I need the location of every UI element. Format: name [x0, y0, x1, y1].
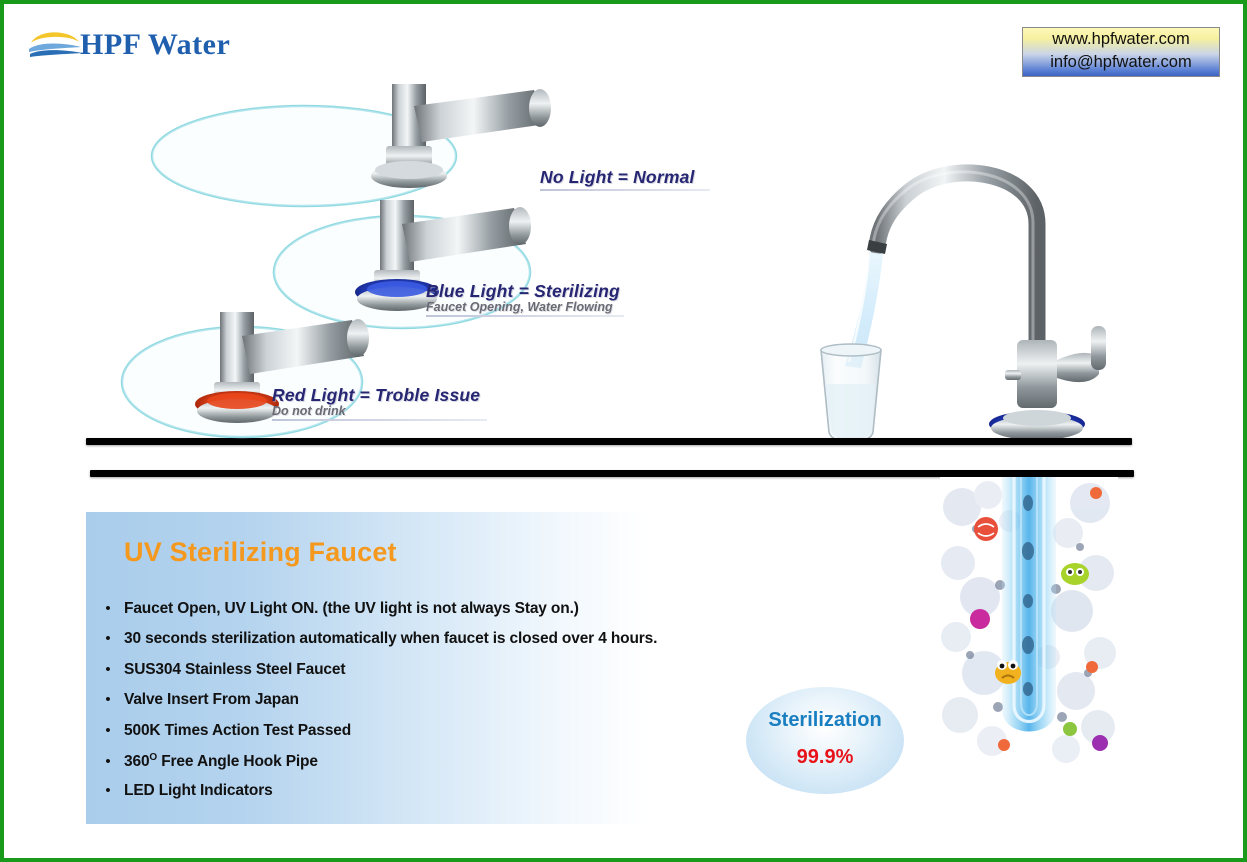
callout-title: Blue Light = Sterilizing [426, 281, 624, 302]
callout-title: No Light = Normal [540, 167, 710, 188]
list-item: • LED Light Indicators [92, 782, 812, 812]
brand-logo: HPF Water [26, 24, 230, 66]
slide-canvas: HPF Water www.hpfwater.com info@hpfwater… [0, 0, 1247, 862]
feature-text: Faucet Open, UV Light ON. (the UV light … [124, 600, 579, 618]
bullet-icon: • [92, 722, 124, 739]
list-item: • Valve Insert From Japan [92, 691, 812, 721]
germ-yellow-face [995, 660, 1021, 684]
bullet-icon: • [92, 691, 124, 708]
contact-info-box: www.hpfwater.com info@hpfwater.com [1022, 27, 1220, 77]
callout-subtitle: Do not drink [272, 404, 487, 418]
feature-text-rest: Free Angle Hook Pipe [157, 753, 318, 770]
status-badge: Sterilization 99.9% [746, 687, 904, 794]
brand-name: HPF Water [80, 28, 230, 62]
germ-magenta [970, 609, 990, 629]
feature-text: Valve Insert From Japan [124, 691, 299, 709]
callout-no-light: No Light = Normal [540, 167, 710, 191]
uv-chamber-illustration [940, 477, 1118, 765]
bullet-icon: • [92, 753, 124, 770]
feature-text: LED Light Indicators [124, 782, 273, 800]
badge-value: 99.9% [746, 746, 904, 769]
email-text[interactable]: info@hpfwater.com [1023, 51, 1219, 74]
list-item: • 30 seconds sterilization automatically… [92, 630, 812, 660]
list-item: • 500K Times Action Test Passed [92, 722, 812, 752]
page-title: UV Sterilizing Faucet [124, 537, 397, 568]
faucet-inset-red-light [112, 312, 472, 452]
bullet-icon: • [92, 630, 124, 647]
bullet-icon: • [92, 661, 124, 678]
feature-text: 30 seconds sterilization automatically w… [124, 630, 657, 648]
countertop-line-bottom [90, 470, 1134, 477]
water-wave-sun-icon [26, 27, 84, 63]
website-text[interactable]: www.hpfwater.com [1023, 28, 1219, 51]
feature-text-main: 360 [124, 753, 149, 770]
main-faucet-illustration [799, 112, 1119, 452]
germ-green [1061, 563, 1089, 585]
bullet-icon: • [92, 782, 124, 799]
germ-purple-dot [1092, 735, 1108, 751]
feature-text: 500K Times Action Test Passed [124, 722, 351, 740]
callout-red-light: Red Light = Troble Issue Do not drink [272, 385, 487, 421]
bullet-icon: • [92, 600, 124, 617]
list-item: • Faucet Open, UV Light ON. (the UV ligh… [92, 600, 812, 630]
list-item: • 360O Free Angle Hook Pipe [92, 752, 812, 782]
feature-list: • Faucet Open, UV Light ON. (the UV ligh… [92, 600, 812, 813]
feature-text: 360O Free Angle Hook Pipe [124, 752, 318, 771]
feature-text: SUS304 Stainless Steel Faucet [124, 661, 345, 679]
badge-label: Sterilization [746, 709, 904, 732]
germ-red [974, 517, 998, 541]
callout-title: Red Light = Troble Issue [272, 385, 487, 406]
faucet-inset-no-light [114, 84, 574, 214]
list-item: • SUS304 Stainless Steel Faucet [92, 661, 812, 691]
degree-superscript: O [149, 752, 157, 763]
germ-lime-dot [1063, 722, 1077, 736]
